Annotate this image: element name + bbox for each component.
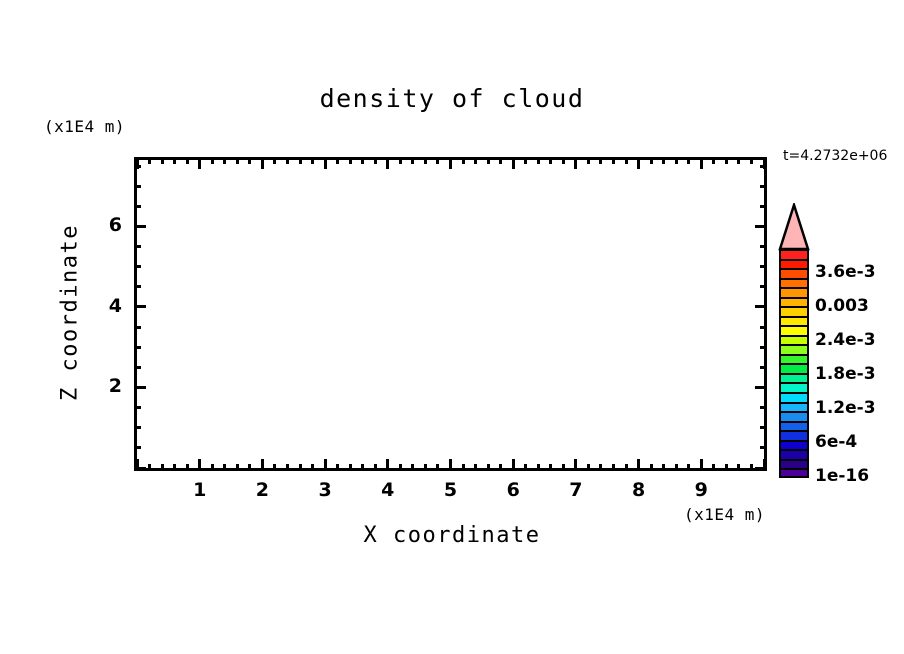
x-axis-tick <box>587 464 590 470</box>
x-axis-tick <box>574 158 577 169</box>
x-tick-label: 2 <box>237 479 287 501</box>
x-axis-tick <box>650 464 653 470</box>
x-axis-tick <box>374 158 377 164</box>
y-axis-tick <box>760 346 766 349</box>
x-axis-tick <box>487 464 490 470</box>
x-axis-tick <box>512 459 515 470</box>
x-axis-tick <box>537 464 540 470</box>
y-axis-tick <box>760 326 766 329</box>
x-axis-tick <box>625 464 628 470</box>
colorbar-band <box>779 278 809 288</box>
x-axis-tick <box>349 464 352 470</box>
x-axis-tick <box>524 464 527 470</box>
y-tick-label: 6 <box>78 214 122 236</box>
colorbar-band <box>779 363 809 373</box>
x-axis-tick <box>612 158 615 164</box>
y-tick-label: 4 <box>78 295 122 317</box>
y-axis-tick <box>135 305 146 308</box>
y-axis-title: Z coordinate <box>58 213 83 413</box>
x-axis-tick <box>712 158 715 164</box>
colorbar-over-range-arrow <box>775 203 813 251</box>
x-axis-tick <box>662 464 665 470</box>
x-axis-tick <box>411 158 414 164</box>
colorbar-band <box>779 382 809 392</box>
x-tick-label: 4 <box>363 479 413 501</box>
x-axis-tick <box>637 158 640 169</box>
x-axis-tick <box>211 158 214 164</box>
x-axis-tick <box>524 158 527 164</box>
y-axis-tick <box>135 285 141 288</box>
y-axis-tick <box>135 467 146 470</box>
colorbar-band <box>779 411 809 421</box>
y-axis-tick <box>135 265 141 268</box>
x-axis-tick <box>186 158 189 164</box>
y-axis-tick <box>760 406 766 409</box>
x-axis-tick <box>311 464 314 470</box>
y-axis-tick <box>760 165 766 168</box>
x-axis-units-label: (x1E4 m) <box>684 505 765 524</box>
x-axis-tick <box>462 158 465 164</box>
colorbar-tick-label: 1.8e-3 <box>815 364 876 384</box>
x-axis-tick <box>574 459 577 470</box>
colorbar-band <box>779 259 809 269</box>
x-tick-label: 8 <box>614 479 664 501</box>
y-axis-tick <box>760 366 766 369</box>
y-axis-tick <box>135 366 141 369</box>
x-tick-label: 5 <box>426 479 476 501</box>
colorbar-tick-label: 1.2e-3 <box>815 398 876 418</box>
colorbar-tick-label: 3.6e-3 <box>815 262 876 282</box>
colorbar-band <box>779 325 809 335</box>
x-tick-label: 1 <box>175 479 225 501</box>
x-axis-tick <box>449 158 452 169</box>
y-tick-label: 2 <box>78 375 122 397</box>
y-axis-tick <box>135 446 141 449</box>
y-axis-tick <box>135 386 146 389</box>
time-stamp-label: t=4.2732e+06 <box>783 148 887 164</box>
x-axis-tick <box>299 158 302 164</box>
y-axis-tick <box>755 467 766 470</box>
x-axis-tick <box>261 459 264 470</box>
colorbar-tick-label: 1e-16 <box>815 466 869 486</box>
colorbar-tick-label: 2.4e-3 <box>815 330 876 350</box>
y-axis-tick <box>760 185 766 188</box>
x-axis-tick <box>198 459 201 470</box>
colorbar-band <box>779 468 809 478</box>
x-axis-tick <box>223 158 226 164</box>
y-axis-tick <box>760 285 766 288</box>
y-axis-tick <box>755 305 766 308</box>
colorbar-band <box>779 430 809 440</box>
y-axis-tick <box>135 426 141 429</box>
x-axis-tick <box>173 464 176 470</box>
x-axis-tick <box>562 158 565 164</box>
x-axis-tick <box>687 464 690 470</box>
x-axis-tick <box>637 459 640 470</box>
colorbar-band <box>779 268 809 278</box>
colorbar-band <box>779 373 809 383</box>
x-axis-tick <box>750 158 753 164</box>
x-axis-tick <box>474 158 477 164</box>
colorbar-band <box>779 402 809 412</box>
x-axis-tick <box>148 158 151 164</box>
x-axis-title: X coordinate <box>0 523 904 548</box>
colorbar-band <box>779 316 809 326</box>
x-axis-tick <box>336 158 339 164</box>
colorbar-band <box>779 287 809 297</box>
x-axis-tick <box>449 459 452 470</box>
x-tick-label: 6 <box>488 479 538 501</box>
x-axis-tick <box>286 158 289 164</box>
x-axis-tick <box>324 459 327 470</box>
colorbar-band <box>779 354 809 364</box>
x-axis-tick <box>587 158 590 164</box>
y-axis-tick <box>755 225 766 228</box>
x-tick-label: 7 <box>551 479 601 501</box>
y-axis-tick <box>760 265 766 268</box>
colorbar-band <box>779 392 809 402</box>
colorbar-band <box>779 421 809 431</box>
x-axis-tick <box>248 464 251 470</box>
y-axis-tick <box>760 245 766 248</box>
x-axis-tick <box>273 158 276 164</box>
x-axis-tick <box>737 158 740 164</box>
x-axis-tick <box>599 464 602 470</box>
x-axis-tick <box>737 464 740 470</box>
x-axis-tick <box>750 464 753 470</box>
y-axis-tick <box>135 406 141 409</box>
x-axis-tick <box>436 158 439 164</box>
y-axis-tick <box>135 225 146 228</box>
x-axis-tick <box>725 158 728 164</box>
x-axis-tick <box>223 464 226 470</box>
x-axis-tick <box>324 158 327 169</box>
x-axis-tick <box>424 158 427 164</box>
x-axis-tick <box>386 158 389 169</box>
x-axis-tick <box>399 158 402 164</box>
x-axis-tick <box>612 464 615 470</box>
x-axis-tick <box>625 158 628 164</box>
x-axis-tick <box>549 158 552 164</box>
x-axis-tick <box>148 464 151 470</box>
y-axis-tick <box>760 426 766 429</box>
x-axis-tick <box>662 158 665 164</box>
x-axis-tick <box>487 158 490 164</box>
x-axis-tick <box>299 464 302 470</box>
plot-axes-frame <box>134 157 767 471</box>
x-axis-tick <box>462 464 465 470</box>
y-axis-tick <box>135 346 141 349</box>
x-axis-tick <box>675 158 678 164</box>
page-title: density of cloud <box>0 84 904 113</box>
y-axis-tick <box>135 185 141 188</box>
x-axis-tick <box>361 464 364 470</box>
colorbar-tick-label: 6e-4 <box>815 432 857 452</box>
colorbar-band <box>779 440 809 450</box>
colorbar-band <box>779 459 809 469</box>
x-axis-tick <box>286 464 289 470</box>
x-axis-tick <box>186 464 189 470</box>
colorbar-tick-label: 0.003 <box>815 296 869 316</box>
y-axis-tick <box>755 386 766 389</box>
x-axis-tick <box>725 464 728 470</box>
x-axis-tick <box>700 459 703 470</box>
x-axis-tick <box>687 158 690 164</box>
x-axis-tick <box>386 459 389 470</box>
x-axis-tick <box>261 158 264 169</box>
x-axis-tick <box>499 158 502 164</box>
x-axis-tick <box>712 464 715 470</box>
x-axis-tick <box>173 158 176 164</box>
x-axis-tick <box>436 464 439 470</box>
y-axis-tick <box>760 446 766 449</box>
x-axis-tick <box>161 464 164 470</box>
colorbar-band <box>779 306 809 316</box>
x-axis-tick <box>512 158 515 169</box>
x-tick-label: 9 <box>676 479 726 501</box>
y-axis-units-label: (x1E4 m) <box>44 117 125 136</box>
colorbar-band <box>779 297 809 307</box>
x-axis-tick <box>675 464 678 470</box>
x-axis-tick <box>198 158 201 169</box>
x-axis-tick <box>236 158 239 164</box>
x-axis-tick <box>599 158 602 164</box>
colorbar-band <box>779 249 809 259</box>
y-axis-tick <box>135 326 141 329</box>
x-axis-tick <box>562 464 565 470</box>
colorbar-band <box>779 335 809 345</box>
x-axis-tick <box>349 158 352 164</box>
x-tick-label: 3 <box>300 479 350 501</box>
x-axis-tick <box>361 158 364 164</box>
x-axis-tick <box>411 464 414 470</box>
x-axis-tick <box>211 464 214 470</box>
y-axis-tick <box>760 205 766 208</box>
colorbar-band <box>779 449 809 459</box>
x-axis-tick <box>374 464 377 470</box>
colorbar[interactable] <box>779 249 809 478</box>
colorbar-band <box>779 344 809 354</box>
y-axis-tick <box>135 245 141 248</box>
x-axis-tick <box>474 464 477 470</box>
x-axis-tick <box>336 464 339 470</box>
x-axis-tick <box>499 464 502 470</box>
x-axis-tick <box>700 158 703 169</box>
x-axis-tick <box>549 464 552 470</box>
x-axis-tick <box>248 158 251 164</box>
x-axis-tick <box>650 158 653 164</box>
x-axis-tick <box>161 158 164 164</box>
y-axis-tick <box>135 205 141 208</box>
x-axis-tick <box>537 158 540 164</box>
x-axis-tick <box>424 464 427 470</box>
x-axis-tick <box>273 464 276 470</box>
x-axis-tick <box>311 158 314 164</box>
x-axis-tick <box>236 464 239 470</box>
x-axis-tick <box>399 464 402 470</box>
y-axis-tick <box>135 165 141 168</box>
